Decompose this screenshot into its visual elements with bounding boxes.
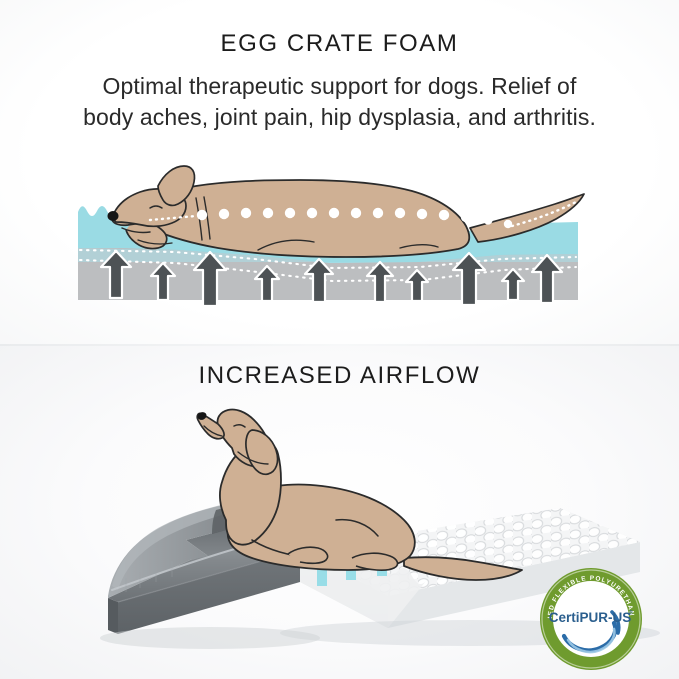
- dog-nose: [108, 211, 119, 221]
- egg-crate-foam-subtitle: Optimal therapeutic support for dogs. Re…: [22, 71, 657, 133]
- subtitle-line-1: Optimal therapeutic support for dogs. Re…: [22, 71, 657, 102]
- badge-wordmark: CertiPUR-US: [549, 610, 632, 625]
- egg-crate-foam-title: EGG CRATE FOAM: [0, 30, 679, 58]
- panel-divider: [0, 344, 679, 346]
- increased-airflow-title: INCREASED AIRFLOW: [0, 362, 679, 390]
- egg-crate-cross-section-illustration: [0, 150, 679, 335]
- certipur-us-badge: CERTIFIED FLEXIBLE POLYURETHANE FOAM WWW…: [538, 566, 644, 672]
- infographic-root: EGG CRATE FOAM Optimal therapeutic suppo…: [0, 0, 679, 679]
- badge-trademark-symbol: ®: [629, 609, 633, 616]
- subtitle-line-2: body aches, joint pain, hip dysplasia, a…: [22, 102, 657, 133]
